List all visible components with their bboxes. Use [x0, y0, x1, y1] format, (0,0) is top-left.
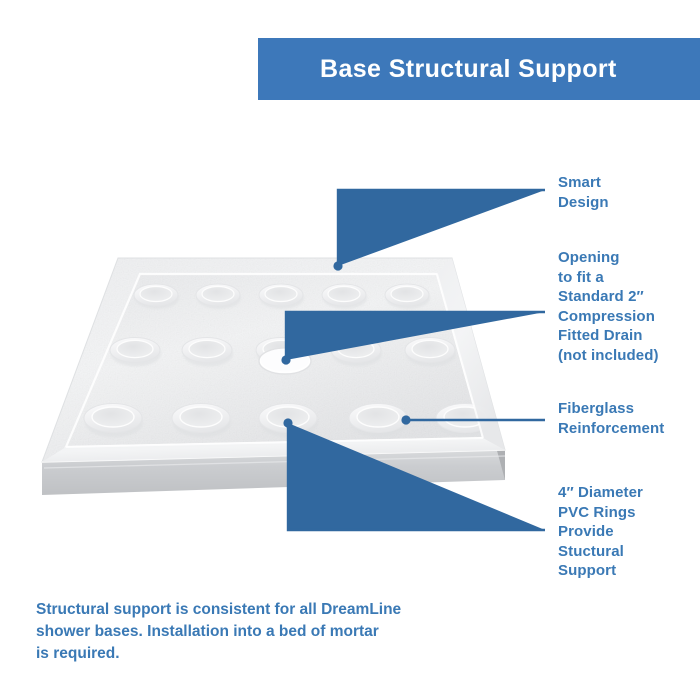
pvc-ring — [259, 284, 304, 309]
drain-opening — [259, 348, 311, 374]
pvc-ring — [331, 338, 382, 367]
callout-fiberglass: Fiberglass Reinforcement — [558, 399, 664, 438]
pvc-ring — [349, 404, 408, 438]
pvc-ring — [405, 338, 456, 367]
pvc-ring — [259, 404, 318, 438]
footer-caption: Structural support is consistent for all… — [36, 599, 506, 665]
pvc-ring — [385, 284, 430, 309]
pvc-ring — [134, 284, 179, 309]
pvc-ring — [84, 404, 143, 438]
infographic-stage: Base Structural Support Smart Design Ope… — [0, 0, 700, 700]
pvc-ring — [196, 284, 241, 309]
pvc-ring — [182, 338, 233, 367]
title-banner: Base Structural Support — [258, 38, 700, 100]
pvc-ring — [322, 284, 367, 309]
pvc-ring — [172, 404, 231, 438]
callout-smart-design: Smart Design — [558, 173, 609, 212]
callout-pvc-rings: 4″ Diameter PVC Rings Provide Stuctural … — [558, 483, 643, 581]
callout-drain-opening: Opening to fit a Standard 2″ Compression… — [558, 248, 659, 365]
pvc-ring — [110, 338, 161, 367]
page-title: Base Structural Support — [320, 55, 617, 84]
